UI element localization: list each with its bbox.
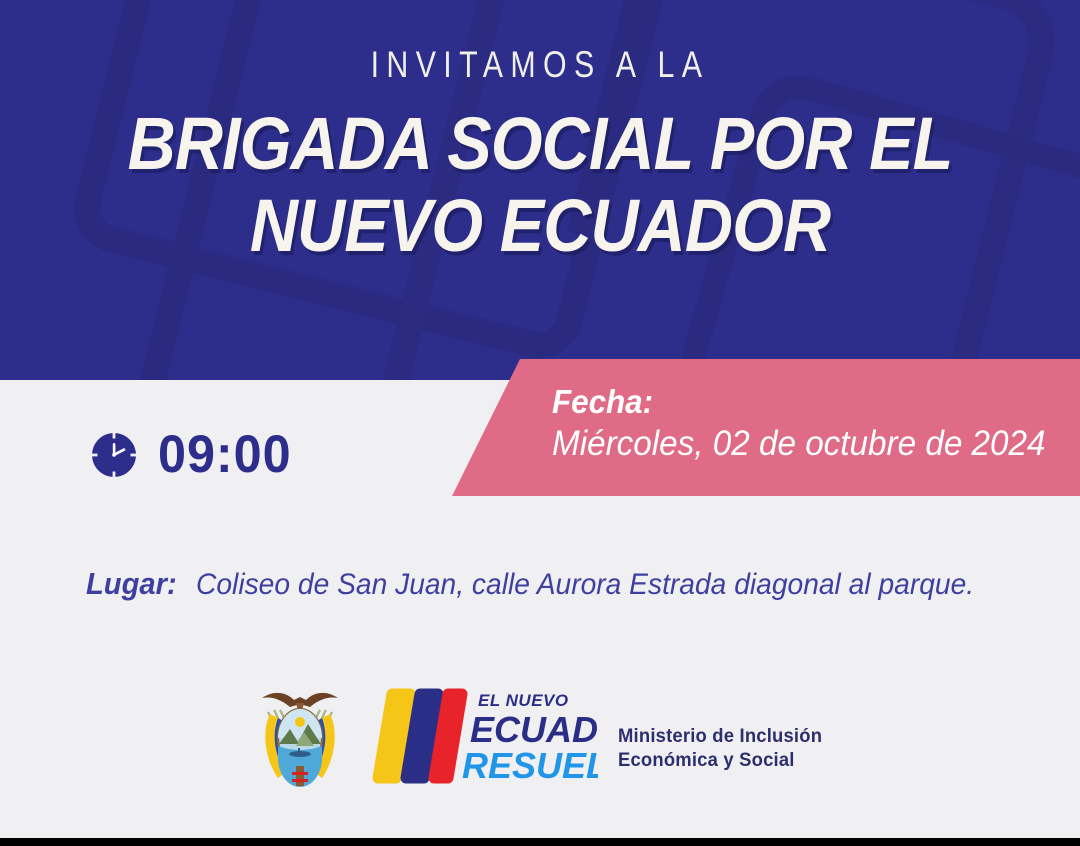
poster-footer: EL NUEVO ECUADOR RESUELVE Ministerio de … [0, 676, 1080, 796]
place-label: Lugar: [86, 566, 177, 602]
time-row: 09:00 [88, 424, 299, 485]
poster-title-line-2: NUEVO ECUADOR [54, 186, 1026, 266]
logo-line-2: ECUADOR [470, 709, 598, 750]
logo-line-3: RESUELVE [462, 745, 598, 786]
date-banner: Fecha: Miércoles, 02 de octubre de 2024 [452, 359, 1080, 496]
poster-kicker: INVITAMOS A LA [97, 44, 983, 86]
bottom-black-bar [0, 838, 1080, 846]
ecuador-coat-of-arms-icon [252, 680, 348, 792]
clock-icon [88, 429, 140, 481]
event-invitation-poster: INVITAMOS A LA BRIGADA SOCIAL POR EL NUE… [0, 0, 1080, 846]
place-row: Lugar: Coliseo de San Juan, calle Aurora… [86, 566, 1024, 602]
time-value: 09:00 [158, 424, 292, 485]
poster-header: INVITAMOS A LA BRIGADA SOCIAL POR EL NUE… [0, 0, 1080, 380]
ministry-name: Ministerio de Inclusión Económica y Soci… [618, 699, 822, 773]
ministry-line-2: Económica y Social [618, 749, 822, 773]
ministry-line-1: Ministerio de Inclusión [618, 725, 822, 749]
date-banner-text: Fecha: Miércoles, 02 de octubre de 2024 [552, 382, 1072, 467]
ecuador-resuelve-logo: EL NUEVO ECUADOR RESUELVE [370, 684, 598, 788]
flag-stripes-icon [378, 694, 462, 778]
logo-line-1: EL NUEVO [478, 691, 569, 710]
date-value: Miércoles, 02 de octubre de 2024 [552, 421, 1046, 467]
place-value: Coliseo de San Juan, calle Aurora Estrad… [196, 568, 974, 602]
poster-title-line-1: BRIGADA SOCIAL POR EL [54, 104, 1026, 184]
date-label: Fecha: [552, 382, 1046, 421]
